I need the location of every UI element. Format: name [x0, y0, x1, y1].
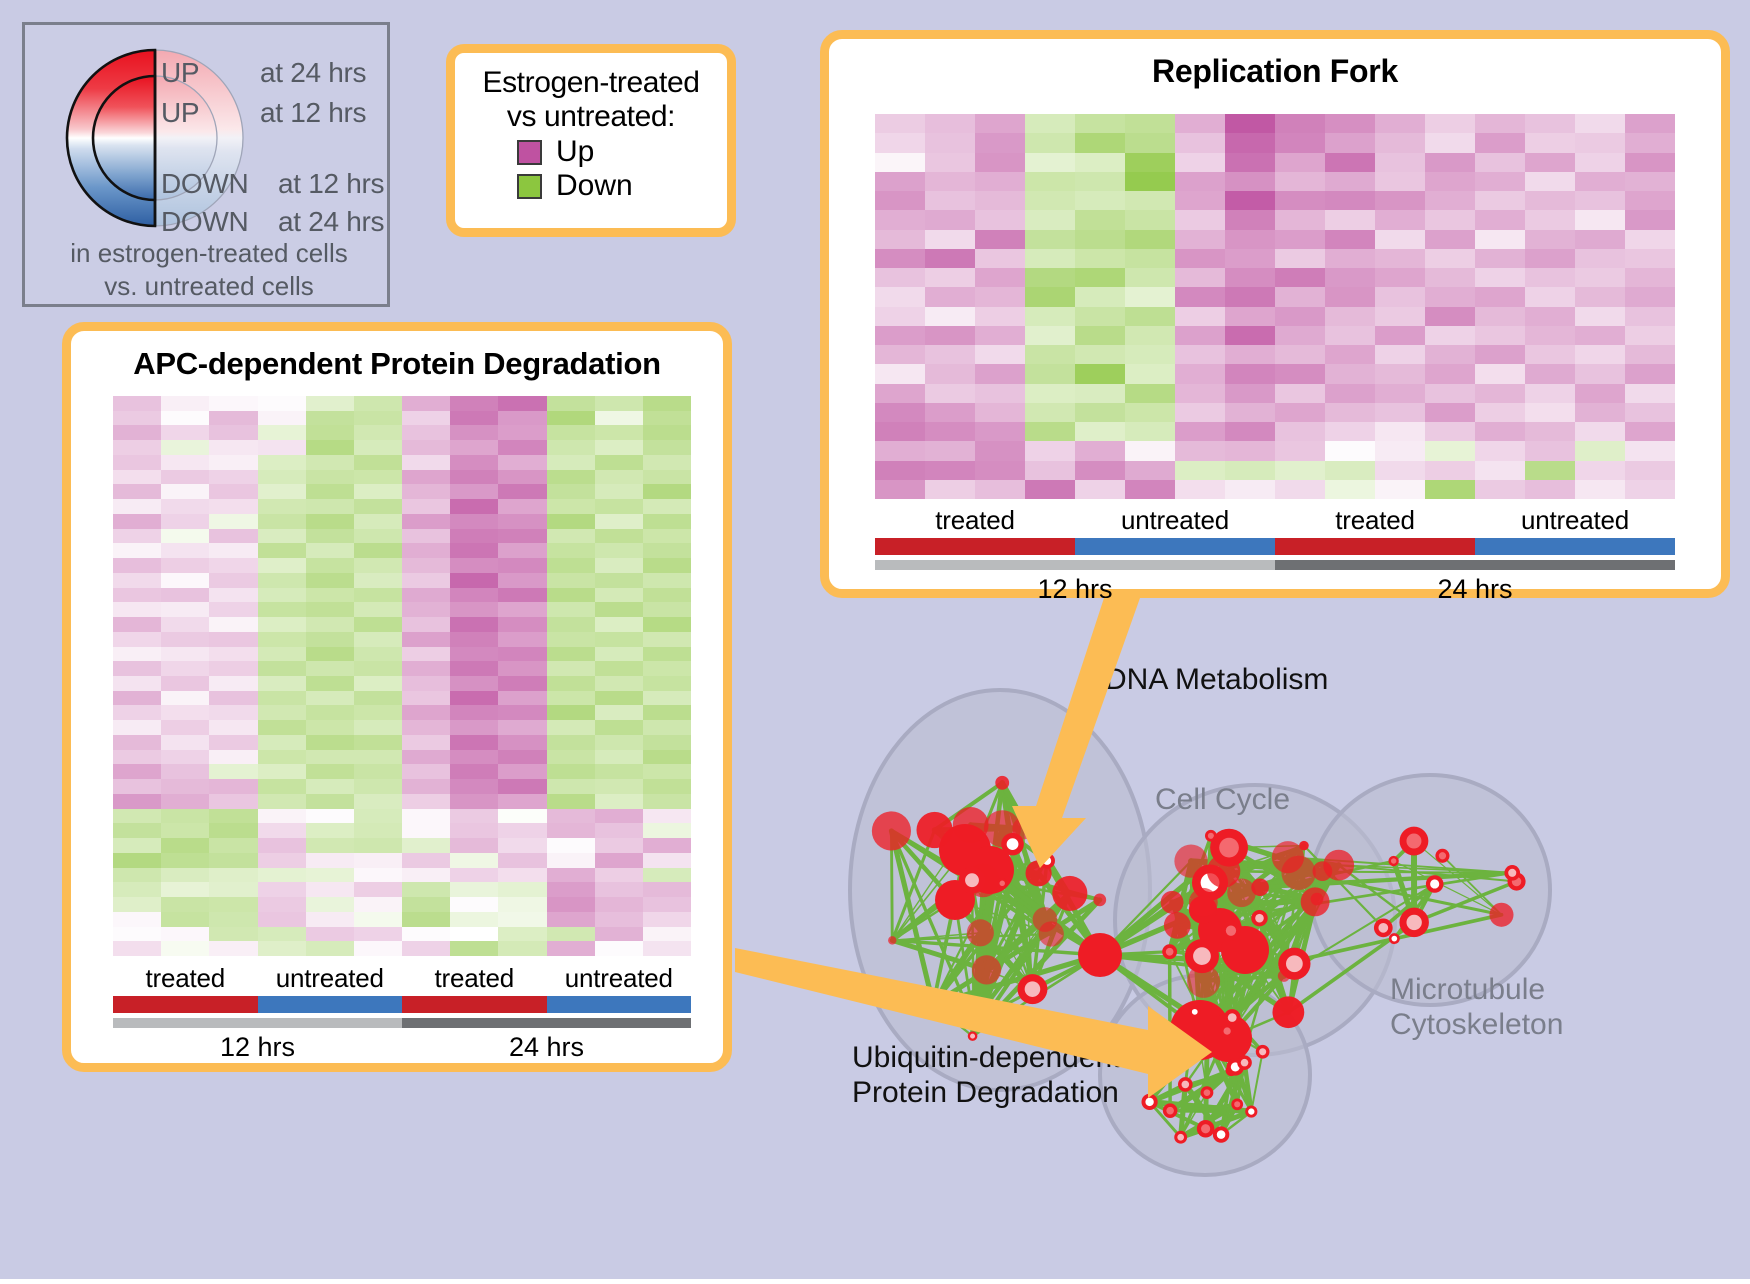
axis-bar-apc-2 — [402, 996, 547, 1013]
heatmap-cell — [1325, 287, 1375, 306]
heatmap-cell — [258, 705, 306, 720]
heatmap-cell — [209, 764, 257, 779]
heatmap-cell — [1225, 133, 1275, 152]
axis-bar-rf-2 — [1275, 538, 1475, 555]
heatmap-cell — [1275, 230, 1325, 249]
heatmap-cell — [402, 779, 450, 794]
heatmap-cell — [354, 425, 402, 440]
heatmap-cell — [1525, 114, 1575, 133]
heatmap-cell — [450, 411, 498, 426]
heatmap-cell — [1275, 114, 1325, 133]
heatmap-cell — [547, 941, 595, 956]
heatmap-cell — [595, 558, 643, 573]
heatmap-cell — [161, 897, 209, 912]
heatmap-cell — [1075, 326, 1125, 345]
axis-group-apc-1: untreated — [258, 963, 403, 994]
heatmap-cell — [258, 396, 306, 411]
heatmap-cell — [498, 779, 546, 794]
heatmap-cell — [975, 422, 1025, 441]
heatmap-cell — [1225, 249, 1275, 268]
heatmap-cell — [925, 364, 975, 383]
heatmap-cell — [595, 588, 643, 603]
heatmap-cell — [547, 632, 595, 647]
network-node-core — [1217, 1130, 1226, 1139]
heatmap-cell — [975, 403, 1025, 422]
heatmap-cell — [113, 411, 161, 426]
heatmap-cell — [1325, 364, 1375, 383]
heatmap-cell — [595, 543, 643, 558]
heatmap-cell — [402, 470, 450, 485]
heatmap-cell — [547, 543, 595, 558]
heatmap-cell — [209, 543, 257, 558]
heatmap-cell — [1375, 403, 1425, 422]
heatmap-cell — [1625, 114, 1675, 133]
heatmap-cell — [1375, 441, 1425, 460]
network-node[interactable] — [1323, 850, 1354, 881]
heatmap-cell — [875, 422, 925, 441]
heatmap-cell — [306, 484, 354, 499]
heatmap-cell — [1075, 384, 1125, 403]
heatmap-cell — [1125, 326, 1175, 345]
heatmap-cell — [161, 882, 209, 897]
heatmap-cell — [1375, 287, 1425, 306]
heatmap-cell — [258, 882, 306, 897]
heatmap-cell — [1175, 307, 1225, 326]
axis-group-rf-3: untreated — [1475, 505, 1675, 536]
heatmap-cell — [925, 153, 975, 172]
heatmap-cell — [643, 912, 691, 927]
heatmap-cell — [1075, 461, 1125, 480]
network-node[interactable] — [1278, 970, 1290, 982]
heatmap-cell — [1575, 114, 1625, 133]
heatmap-cell — [1275, 345, 1325, 364]
heatmap-cell — [1125, 210, 1175, 229]
heatmap-cell — [209, 838, 257, 853]
heatmap-cell — [113, 573, 161, 588]
axis-time-bar-apc-1 — [402, 1018, 691, 1028]
heatmap-cell — [306, 823, 354, 838]
heatmap-cell — [975, 461, 1025, 480]
heatmap-cell — [1525, 287, 1575, 306]
heatmap-cell — [643, 661, 691, 676]
heatmap-cell — [161, 764, 209, 779]
heatmap-cell — [161, 868, 209, 883]
heatmap-cell — [306, 764, 354, 779]
heatmap-cell — [595, 499, 643, 514]
heatmap-cell — [354, 779, 402, 794]
network-svg — [790, 600, 1750, 1279]
heatmap-cell — [975, 230, 1025, 249]
axis-bar-rf-3 — [1475, 538, 1675, 555]
network-node[interactable] — [1164, 912, 1191, 939]
network-node[interactable] — [1174, 845, 1207, 878]
heatmap-cell — [925, 422, 975, 441]
heatmap-cell — [1425, 133, 1475, 152]
heatmap-cell — [498, 543, 546, 558]
heatmap-cell — [547, 823, 595, 838]
heatmap-cell — [258, 440, 306, 455]
heatmap-cell — [1075, 364, 1125, 383]
heatmap-cell — [354, 838, 402, 853]
heatmap-cell — [1375, 153, 1425, 172]
heatmap-cell — [1475, 441, 1525, 460]
heatmap-cell — [1325, 441, 1375, 460]
heatmap-cell — [1425, 441, 1475, 460]
heatmap-cell — [975, 384, 1025, 403]
axis-time-labels-apc: 12 hrs 24 hrs — [113, 1032, 691, 1063]
network-node[interactable] — [953, 807, 989, 843]
heatmap-cell — [1625, 422, 1675, 441]
network-node[interactable] — [1272, 996, 1304, 1028]
heatmap-cell — [498, 573, 546, 588]
heatmap-cell — [643, 779, 691, 794]
heatmap-cell — [450, 750, 498, 765]
network-node[interactable] — [1251, 878, 1269, 896]
axis-bar-apc-1 — [258, 996, 403, 1013]
heatmap-cell — [354, 912, 402, 927]
heatmap-cell — [209, 558, 257, 573]
network-node[interactable] — [872, 811, 911, 850]
heatmap-cell — [1425, 268, 1475, 287]
heatmap-cell — [547, 897, 595, 912]
heatmap-cell — [1025, 230, 1075, 249]
heatmap-cell — [1575, 384, 1625, 403]
heatmap-cell — [925, 249, 975, 268]
heatmap-cell — [643, 720, 691, 735]
heatmap-cell — [547, 779, 595, 794]
heatmap-cell — [306, 440, 354, 455]
heatmap-cell — [1525, 480, 1575, 499]
heatmap-cell — [1375, 422, 1425, 441]
figure-root: UP at 24 hrs UP at 12 hrs DOWN at 12 hrs… — [0, 0, 1750, 1279]
heatmap-cell — [402, 705, 450, 720]
network-node[interactable] — [916, 812, 952, 848]
heatmap-cell — [1225, 480, 1275, 499]
heatmap-cell — [1175, 326, 1225, 345]
heatmap-cell — [975, 172, 1025, 191]
heatmap-cell — [1175, 133, 1225, 152]
heatmap-cell — [1275, 268, 1325, 287]
heatmap-cell — [1375, 114, 1425, 133]
network-node-core — [1228, 1013, 1237, 1022]
heatmap-cell — [498, 440, 546, 455]
heatmap-cell — [547, 617, 595, 632]
heatmap-cell — [595, 868, 643, 883]
heatmap-cell — [1025, 133, 1075, 152]
network-node[interactable] — [1311, 893, 1324, 906]
heatmap-cell — [402, 425, 450, 440]
heatmap-cell — [306, 912, 354, 927]
heatmap-cell — [498, 514, 546, 529]
heatmap-cell — [643, 588, 691, 603]
heatmap-cell — [643, 676, 691, 691]
heatmap-cell — [402, 455, 450, 470]
heatmap-cell — [1325, 384, 1375, 403]
heatmap-cell — [1625, 191, 1675, 210]
heatmap-cell — [1325, 422, 1375, 441]
heatmap-cell — [1375, 461, 1425, 480]
heatmap-cell — [354, 455, 402, 470]
cluster-label-microtubule-cytoskeleton: MicrotubuleCytoskeleton — [1390, 972, 1563, 1043]
cluster-label-cell-cycle: Cell Cycle — [1155, 782, 1290, 817]
network-node-core — [1378, 923, 1388, 933]
heatmap-cell — [547, 868, 595, 883]
heatmap-cell — [547, 455, 595, 470]
network-node[interactable] — [1078, 933, 1122, 977]
heatmap-cell — [643, 941, 691, 956]
heatmap-cell — [1075, 133, 1125, 152]
heatmap-cell — [1125, 133, 1175, 152]
heatmap-cell — [547, 470, 595, 485]
heatmap-cell — [1575, 249, 1625, 268]
heatmap-cell — [1525, 422, 1575, 441]
heatmap-cell — [450, 661, 498, 676]
heatmap-cell — [1475, 191, 1525, 210]
heatmap-cell — [1325, 326, 1375, 345]
heatmap-cell — [1625, 268, 1675, 287]
heatmap-cell — [161, 440, 209, 455]
heatmap-cell — [258, 588, 306, 603]
heatmap-cell — [258, 411, 306, 426]
network-node-core — [970, 1017, 978, 1025]
network-node-core — [1226, 926, 1236, 936]
heatmap-cell — [498, 470, 546, 485]
network-node-core — [965, 873, 979, 887]
heatmap-cell — [450, 573, 498, 588]
axis-colour-bar-apc — [113, 996, 691, 1013]
heatmap-cell — [1225, 268, 1275, 287]
heatmap-cell — [1425, 172, 1475, 191]
heatmap-cell — [258, 617, 306, 632]
heatmap-cell — [498, 661, 546, 676]
heatmap-cell — [1125, 422, 1175, 441]
heatmap-cell — [306, 455, 354, 470]
heatmap-cell — [113, 750, 161, 765]
heatmap-cell — [1475, 422, 1525, 441]
heatmap-cell — [1575, 210, 1625, 229]
heatmap-cell — [1425, 422, 1475, 441]
heatmap-cell — [306, 470, 354, 485]
heatmap-cell — [1625, 249, 1675, 268]
heatmap-cell — [402, 661, 450, 676]
heatmap-cell — [1425, 345, 1475, 364]
heatmap-cell — [1275, 441, 1325, 460]
heatmap-cell — [113, 484, 161, 499]
heatmap-cell — [402, 809, 450, 824]
key-footer-line1: in estrogen-treated cells — [25, 237, 393, 270]
heatmap-cell — [1225, 384, 1275, 403]
network-node[interactable] — [972, 955, 1001, 984]
heatmap-cell — [1575, 191, 1625, 210]
cluster-label-dna-metabolism: DNA Metabolism — [1105, 662, 1328, 697]
heatmap-cell — [595, 941, 643, 956]
key-time-down-24: at 24 hrs — [278, 206, 384, 238]
heatmap-cell — [1475, 172, 1525, 191]
heatmap-cell — [498, 764, 546, 779]
heatmap-cell — [306, 853, 354, 868]
heatmap-cell — [113, 499, 161, 514]
heatmap-cell — [402, 396, 450, 411]
heatmap-cell — [161, 543, 209, 558]
network-node[interactable] — [1161, 891, 1184, 914]
network-node-core — [1201, 1124, 1210, 1133]
heatmap-cell — [875, 210, 925, 229]
heatmap-cell — [643, 455, 691, 470]
network-node[interactable] — [1052, 876, 1087, 911]
heatmap-cell — [975, 153, 1025, 172]
heatmap-cell — [498, 941, 546, 956]
heatmap-cell — [498, 632, 546, 647]
heatmap-cell — [1275, 480, 1325, 499]
heatmap-cell — [547, 927, 595, 942]
heatmap-cell — [875, 307, 925, 326]
heatmap-cell — [1625, 441, 1675, 460]
heatmap-cell — [161, 499, 209, 514]
heatmap-cell — [498, 823, 546, 838]
heatmap-cell — [450, 927, 498, 942]
heatmap-cell — [1475, 461, 1525, 480]
network-node[interactable] — [995, 776, 1009, 790]
heatmap-cell — [1575, 326, 1625, 345]
heatmap-cell — [161, 514, 209, 529]
heatmap-cell — [975, 268, 1025, 287]
key-time-up-24: at 24 hrs — [260, 57, 366, 89]
heatmap-cell — [306, 661, 354, 676]
heatmap-cell — [1275, 461, 1325, 480]
up-label: Up — [556, 137, 594, 167]
heatmap-cell — [643, 514, 691, 529]
heatmap-cell — [306, 647, 354, 662]
heatmap-cell — [161, 809, 209, 824]
axis-bar-apc-3 — [547, 996, 692, 1013]
heatmap-cell — [113, 617, 161, 632]
key-time-down-12: at 12 hrs — [278, 168, 384, 200]
heatmap-cell — [113, 720, 161, 735]
heatmap-cell — [595, 617, 643, 632]
heatmap-cell — [1525, 461, 1575, 480]
network-node-core — [1177, 1134, 1184, 1141]
heatmap-cell — [1525, 364, 1575, 383]
heatmap-cell — [450, 779, 498, 794]
axis-bar-rf-1 — [1075, 538, 1275, 555]
heatmap-cell — [258, 912, 306, 927]
heatmap-cell — [643, 750, 691, 765]
heatmap-cell — [1125, 268, 1175, 287]
heatmap-cell — [402, 411, 450, 426]
heatmap-cell — [354, 705, 402, 720]
heatmap-cell — [113, 676, 161, 691]
heatmap-cell — [113, 794, 161, 809]
heatmap-cell — [547, 838, 595, 853]
heatmap-cell — [450, 455, 498, 470]
heatmap-cell — [595, 573, 643, 588]
heatmap-cell — [258, 823, 306, 838]
heatmap-cell — [925, 210, 975, 229]
heatmap-cell — [1375, 480, 1425, 499]
heatmap-cell — [209, 411, 257, 426]
heatmap-cell — [547, 440, 595, 455]
heatmap-cell — [306, 882, 354, 897]
network-node-core — [1223, 1027, 1230, 1034]
network-node[interactable] — [1299, 841, 1309, 851]
heatmap-cell — [354, 927, 402, 942]
heatmap-cell — [595, 632, 643, 647]
heatmap-cell — [354, 853, 402, 868]
heatmap-cell — [643, 543, 691, 558]
heatmap-cell — [113, 470, 161, 485]
heatmap-cell — [209, 882, 257, 897]
heatmap-cell — [402, 602, 450, 617]
heatmap-cell — [209, 396, 257, 411]
heatmap-cell — [402, 882, 450, 897]
network-node[interactable] — [1189, 888, 1218, 917]
heatmap-cell — [1425, 364, 1475, 383]
down-label: Down — [556, 171, 633, 201]
heatmap-cell — [209, 455, 257, 470]
heatmap-cell — [595, 853, 643, 868]
heatmap-cell — [306, 779, 354, 794]
heatmap-cell — [1475, 268, 1525, 287]
heatmap-cell — [258, 941, 306, 956]
network-node[interactable] — [1033, 907, 1058, 932]
heatmap-cell — [258, 661, 306, 676]
network-node[interactable] — [1187, 965, 1220, 998]
heatmap-cell — [354, 632, 402, 647]
network-node[interactable] — [967, 919, 994, 946]
network-node[interactable] — [888, 936, 896, 944]
heatmap-cell — [402, 941, 450, 956]
heatmap-cell — [161, 484, 209, 499]
network-node-core — [1043, 857, 1051, 865]
heatmap-cell — [258, 868, 306, 883]
heatmap-cell — [113, 691, 161, 706]
heatmap-cell — [875, 403, 925, 422]
heatmap-cell — [1575, 268, 1625, 287]
heatmap-cell — [1275, 172, 1325, 191]
colour-key-box: UP at 24 hrs UP at 12 hrs DOWN at 12 hrs… — [22, 22, 390, 307]
heatmap-cell — [1325, 133, 1375, 152]
axis-group-names-apc: treated untreated treated untreated — [113, 963, 691, 994]
heatmap-cell — [547, 484, 595, 499]
heatmap-cell — [258, 514, 306, 529]
axis-time-bar-rf — [875, 560, 1675, 570]
heatmap-cell — [306, 617, 354, 632]
heatmap-cell — [354, 676, 402, 691]
heatmap-cell — [1325, 172, 1375, 191]
network-node-core — [1430, 879, 1439, 888]
heatmap-cell — [1475, 384, 1525, 403]
heatmap-cell — [1525, 210, 1575, 229]
heatmap-cell — [258, 750, 306, 765]
heatmap-cell — [354, 529, 402, 544]
heatmap-cell — [1125, 114, 1175, 133]
network-node[interactable] — [1093, 893, 1106, 906]
heatmap-cell — [161, 558, 209, 573]
heatmap-cell — [1575, 153, 1625, 172]
heatmap-cell — [354, 794, 402, 809]
heatmap-cell — [1125, 480, 1175, 499]
heatmap-cell — [209, 514, 257, 529]
heatmap-cell — [547, 809, 595, 824]
axis-group-rf-2: treated — [1275, 505, 1475, 536]
heatmap-cell — [643, 647, 691, 662]
heatmap-cell — [209, 647, 257, 662]
heatmap-cell — [161, 617, 209, 632]
network-node[interactable] — [1489, 903, 1513, 927]
heatmap-cell — [258, 602, 306, 617]
heatmap-cell — [498, 794, 546, 809]
heatmap-cell — [450, 543, 498, 558]
